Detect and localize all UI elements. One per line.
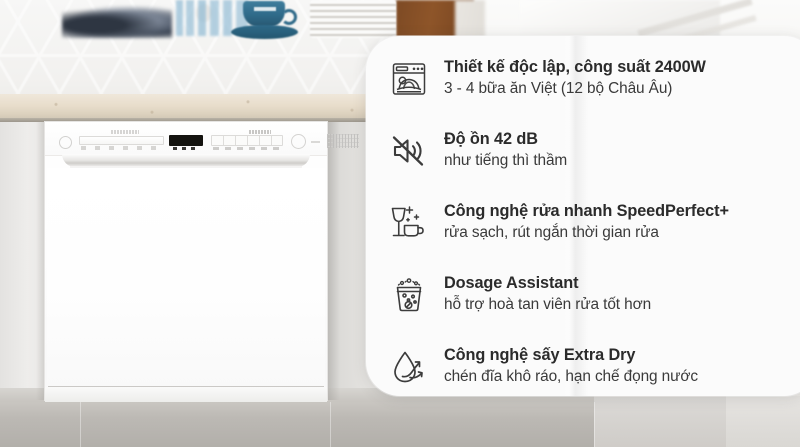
option-buttons-row[interactable] <box>211 135 283 146</box>
floor-seam-2 <box>330 402 331 447</box>
feature-title: Công nghệ sấy Extra Dry <box>444 345 698 366</box>
power-button[interactable] <box>59 136 72 149</box>
feature-list: Thiết kế độc lập, công suất 2400W 3 - 4 … <box>366 36 800 416</box>
feature-title: Thiết kế độc lập, công suất 2400W <box>444 57 706 78</box>
detergent-glass-icon <box>388 274 430 316</box>
feature-title: Dosage Assistant <box>444 273 651 294</box>
feature-subtitle: chén đĩa khô ráo, hạn chế đọng nước <box>444 367 698 387</box>
dishwasher-icon <box>388 58 430 100</box>
feature-item-speedperfect: Công nghệ rửa nhanh SpeedPerfect+ rửa sạ… <box>366 200 800 272</box>
feature-item-dosage-assistant: Dosage Assistant hỗ trợ hoà tan viên rửa… <box>366 272 800 344</box>
dishwasher-display <box>169 135 203 146</box>
feature-text: Công nghệ sấy Extra Dry chén đĩa khô ráo… <box>444 344 698 387</box>
feature-item-extra-dry: Công nghệ sấy Extra Dry chén đĩa khô ráo… <box>366 344 800 416</box>
feature-subtitle: 3 - 4 bữa ăn Việt (12 bộ Châu Âu) <box>444 79 706 99</box>
start-button[interactable] <box>291 134 306 149</box>
stacked-white-plates <box>310 0 396 38</box>
program-selector-strip[interactable] <box>79 136 164 145</box>
dishwasher-controls-group <box>59 130 314 150</box>
feature-item-design-power: Thiết kế độc lập, công suất 2400W 3 - 4 … <box>366 56 800 128</box>
display-segment-labels <box>173 147 199 150</box>
panel-divider <box>311 141 320 143</box>
feature-title: Công nghệ rửa nhanh SpeedPerfect+ <box>444 201 729 222</box>
program-labels <box>81 146 163 150</box>
feature-subtitle: rửa sạch, rút ngắn thời gian rửa <box>444 223 729 243</box>
dishwasher-right-shadow <box>327 122 340 400</box>
feature-highlight-card: Thiết kế độc lập, công suất 2400W 3 - 4 … <box>366 36 800 396</box>
dishwasher-model-mark <box>249 130 271 134</box>
teacup-dot-pattern <box>254 7 276 11</box>
dishwasher-door[interactable] <box>47 168 325 388</box>
mute-speaker-icon <box>388 130 430 172</box>
water-drop-dry-icon <box>388 346 430 388</box>
dishwasher-brand-mark <box>111 130 139 134</box>
feature-text: Công nghệ rửa nhanh SpeedPerfect+ rửa sạ… <box>444 200 729 243</box>
sparkling-glass-cup-icon <box>388 202 430 244</box>
feature-text: Dosage Assistant hỗ trợ hoà tan viên rửa… <box>444 272 651 315</box>
dishwasher-plinth <box>45 387 327 402</box>
feature-text: Độ ồn 42 dB như tiếng thì thầm <box>444 128 567 171</box>
teacup-handle <box>281 9 297 25</box>
option-button-labels <box>213 147 283 150</box>
feature-text: Thiết kế độc lập, công suất 2400W 3 - 4 … <box>444 56 706 99</box>
teacup-saucer <box>231 25 298 39</box>
floor-seam-1 <box>80 402 81 447</box>
feature-subtitle: như tiếng thì thầm <box>444 151 567 171</box>
energy-label-sticker <box>327 134 359 148</box>
feature-item-noise-level: Độ ồn 42 dB như tiếng thì thầm <box>366 128 800 200</box>
blue-teacup <box>243 1 285 27</box>
feature-subtitle: hỗ trợ hoà tan viên rửa tốt hơn <box>444 295 651 315</box>
feature-title: Độ ồn 42 dB <box>444 129 567 150</box>
folded-cloth <box>62 6 172 38</box>
